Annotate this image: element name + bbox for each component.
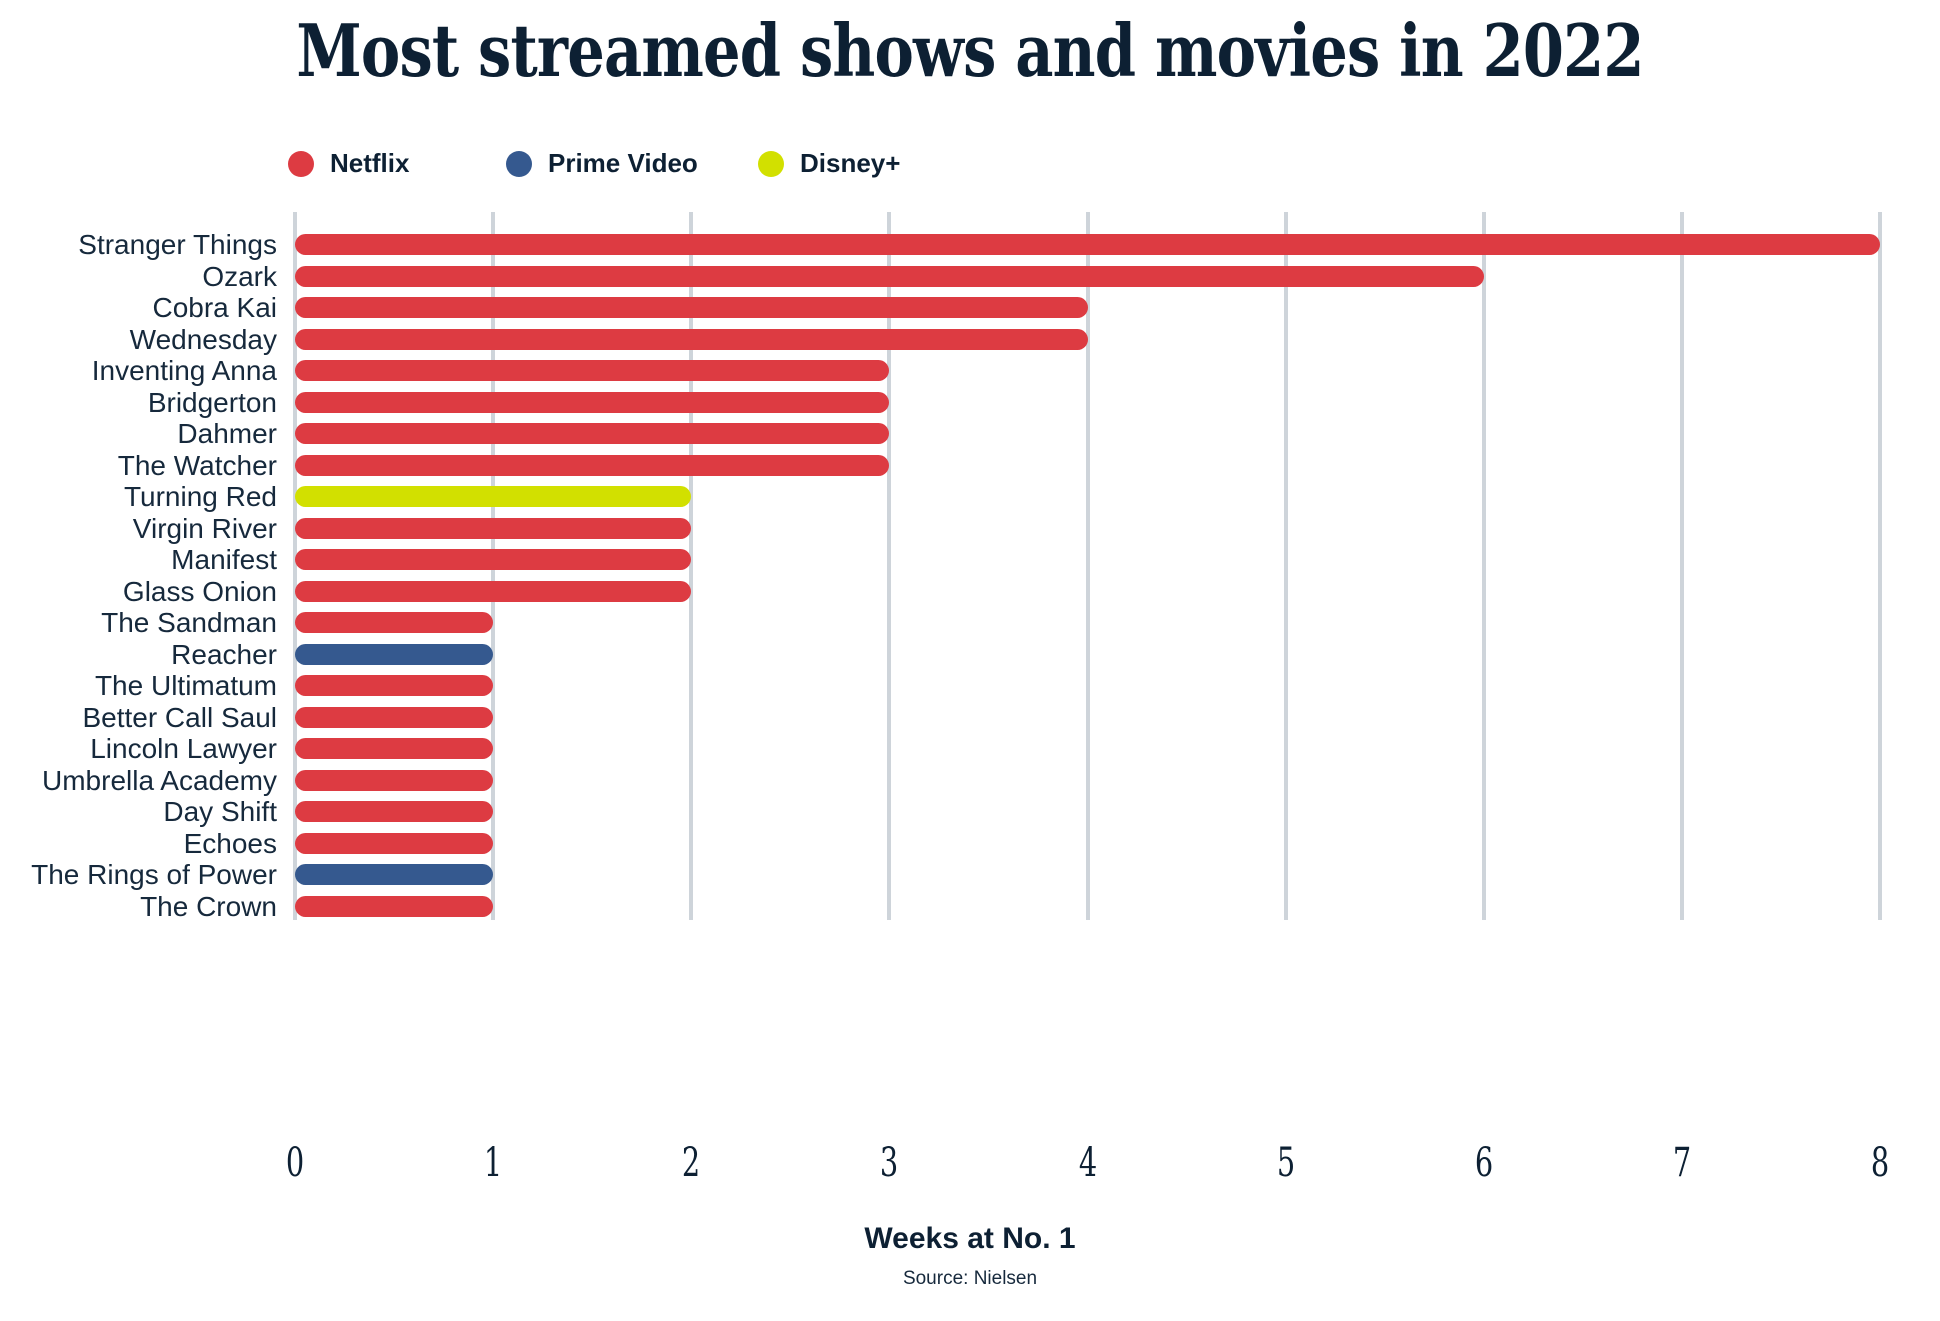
y-axis-label: Manifest	[171, 544, 277, 576]
bar[interactable]	[295, 392, 889, 413]
bar[interactable]	[295, 486, 691, 507]
legend-label-prime-video: Prime Video	[548, 148, 698, 179]
bar[interactable]	[295, 423, 889, 444]
chart-legend: Netflix Prime Video Disney+	[288, 148, 900, 179]
y-axis-label: Better Call Saul	[82, 702, 277, 734]
gridline-5	[1284, 212, 1288, 920]
legend-label-netflix: Netflix	[330, 148, 409, 179]
y-axis-label: Turning Red	[124, 481, 277, 513]
y-axis-label: Echoes	[184, 828, 277, 860]
gridline-2	[689, 212, 693, 920]
bar[interactable]	[295, 801, 493, 822]
gridline-8	[1878, 212, 1882, 920]
gridline-3	[887, 212, 891, 920]
gridline-4	[1086, 212, 1090, 920]
x-axis-tick-label: 4	[1059, 1140, 1117, 1186]
x-axis-tick-label: 3	[861, 1140, 919, 1186]
bar[interactable]	[295, 455, 889, 476]
y-axis-label: Reacher	[171, 639, 277, 671]
bar[interactable]	[295, 518, 691, 539]
bar[interactable]	[295, 266, 1484, 287]
bars-container	[295, 228, 1880, 920]
legend-label-disney-plus: Disney+	[800, 148, 900, 179]
legend-dot-icon	[506, 151, 532, 177]
bar[interactable]	[295, 864, 493, 885]
bar[interactable]	[295, 297, 1088, 318]
bar[interactable]	[295, 675, 493, 696]
y-axis-labels: Stranger ThingsOzarkCobra KaiWednesdayIn…	[0, 228, 295, 920]
y-axis-label: The Ultimatum	[95, 670, 277, 702]
x-axis-tick-label: 8	[1851, 1140, 1909, 1186]
gridline-7	[1680, 212, 1684, 920]
x-axis-tick-label: 1	[464, 1140, 522, 1186]
chart-plot-area: Stranger ThingsOzarkCobra KaiWednesdayIn…	[0, 228, 1940, 928]
y-axis-label: Glass Onion	[123, 576, 277, 608]
bar[interactable]	[295, 581, 691, 602]
bar[interactable]	[295, 644, 493, 665]
bar[interactable]	[295, 738, 493, 759]
x-axis-title: Weeks at No. 1	[0, 1222, 1940, 1256]
legend-item-disney-plus[interactable]: Disney+	[758, 148, 900, 179]
bar[interactable]	[295, 833, 493, 854]
x-axis-ticks: 012345678	[295, 1140, 1880, 1190]
bar[interactable]	[295, 770, 493, 791]
bar[interactable]	[295, 896, 493, 917]
y-axis-label: The Crown	[140, 891, 277, 923]
y-axis-label: Cobra Kai	[152, 292, 277, 324]
y-axis-label: Stranger Things	[78, 229, 277, 261]
y-axis-label: Virgin River	[133, 513, 277, 545]
bar[interactable]	[295, 707, 493, 728]
page-title: Most streamed shows and movies in 2022	[175, 8, 1766, 93]
legend-item-netflix[interactable]: Netflix	[288, 148, 506, 179]
y-axis-label: Inventing Anna	[92, 355, 277, 387]
x-axis-tick-label: 6	[1455, 1140, 1513, 1186]
y-axis-label: Day Shift	[163, 796, 277, 828]
legend-item-prime-video[interactable]: Prime Video	[506, 148, 758, 179]
x-axis-tick-label: 5	[1257, 1140, 1315, 1186]
bar[interactable]	[295, 360, 889, 381]
y-axis-label: Umbrella Academy	[42, 765, 277, 797]
y-axis-label: The Watcher	[118, 450, 277, 482]
legend-dot-icon	[288, 151, 314, 177]
y-axis-label: Lincoln Lawyer	[90, 733, 277, 765]
x-axis-tick-label: 7	[1653, 1140, 1711, 1186]
legend-dot-icon	[758, 151, 784, 177]
y-axis-label: Dahmer	[177, 418, 277, 450]
y-axis-label: Ozark	[202, 261, 277, 293]
bar[interactable]	[295, 549, 691, 570]
y-axis-label: Bridgerton	[148, 387, 277, 419]
x-axis-tick-label: 2	[662, 1140, 720, 1186]
gridline-6	[1482, 212, 1486, 920]
bar[interactable]	[295, 329, 1088, 350]
y-axis-label: The Sandman	[101, 607, 277, 639]
bar[interactable]	[295, 234, 1880, 255]
y-axis-label: Wednesday	[130, 324, 277, 356]
bar[interactable]	[295, 612, 493, 633]
source-note: Source: Nielsen	[0, 1268, 1940, 1290]
y-axis-label: The Rings of Power	[31, 859, 277, 891]
x-axis-tick-label: 0	[266, 1140, 324, 1186]
